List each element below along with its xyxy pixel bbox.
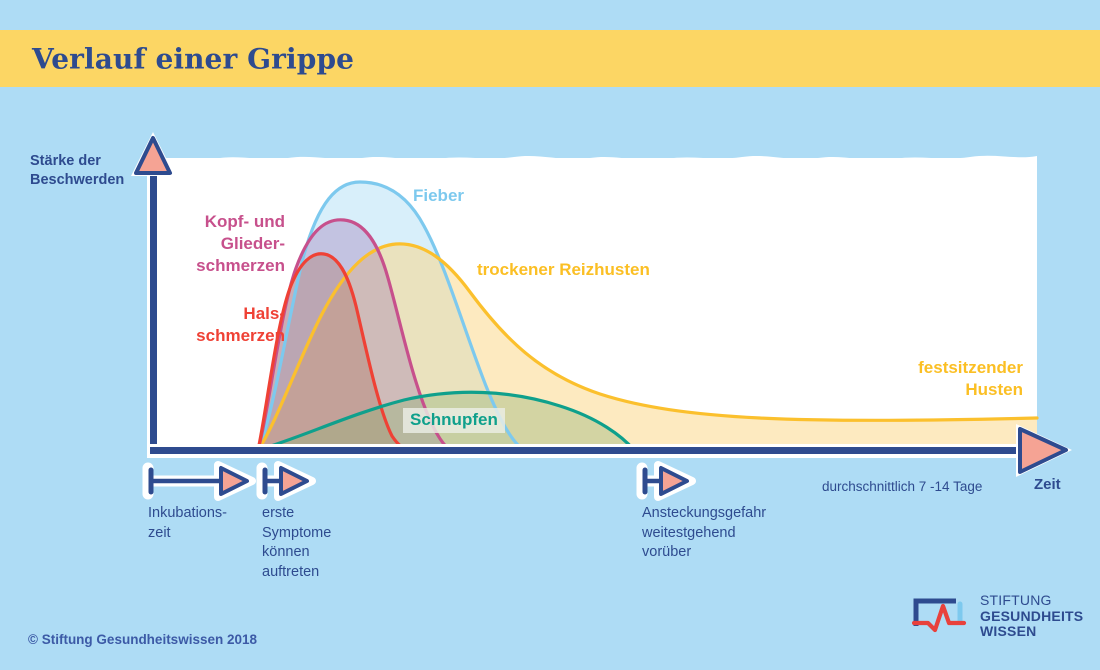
copyright-notice: © Stiftung Gesundheitswissen 2018: [28, 632, 257, 647]
logo-pulse-icon: [912, 596, 970, 636]
logo-line-3: WISSEN: [980, 624, 1083, 640]
logo: STIFTUNG GESUNDHEITS WISSEN: [912, 592, 1084, 644]
logo-line-1: STIFTUNG: [980, 593, 1083, 609]
marker-arrow-ansteckungsgefahr: [642, 465, 692, 497]
title-band: Verlauf einer Grippe: [0, 30, 1100, 87]
curve-label-schnupfen: Schnupfen: [403, 408, 505, 433]
infographic-root: Verlauf einer Grippe: [0, 0, 1100, 670]
timeline-caption-erste-symptome: erste Symptome können auftreten: [262, 504, 331, 582]
curve-label-festsitzender-husten: festsitzender Husten: [888, 357, 1023, 401]
marker-arrow-inkubationszeit: [148, 465, 252, 497]
curve-label-fieber: Fieber: [413, 186, 464, 206]
marker-arrow-erste-symptome: [262, 465, 312, 497]
timeline-caption-inkubationszeit: Inkubations- zeit: [148, 504, 227, 543]
logo-line-2: GESUNDHEITS: [980, 609, 1083, 625]
y-axis-label: Stärke der Beschwerden: [30, 152, 150, 190]
page-title: Verlauf einer Grippe: [32, 42, 354, 75]
curve-label-halsschmerzen: Hals- schmerzen: [165, 303, 285, 347]
logo-wordmark: STIFTUNG GESUNDHEITS WISSEN: [980, 593, 1083, 640]
timeline-caption-ansteckungsgefahr: Ansteckungsgefahr weitestgehend vorüber: [642, 504, 766, 563]
curve-label-trockener-reizhusten: trockener Reizhusten: [477, 260, 650, 280]
x-axis-label: Zeit: [1034, 476, 1061, 493]
curve-label-kopf-und-gliederschmerzen: Kopf- und Glieder- schmerzen: [175, 211, 285, 276]
average-duration-note: durchschnittlich 7 -14 Tage: [822, 479, 982, 494]
